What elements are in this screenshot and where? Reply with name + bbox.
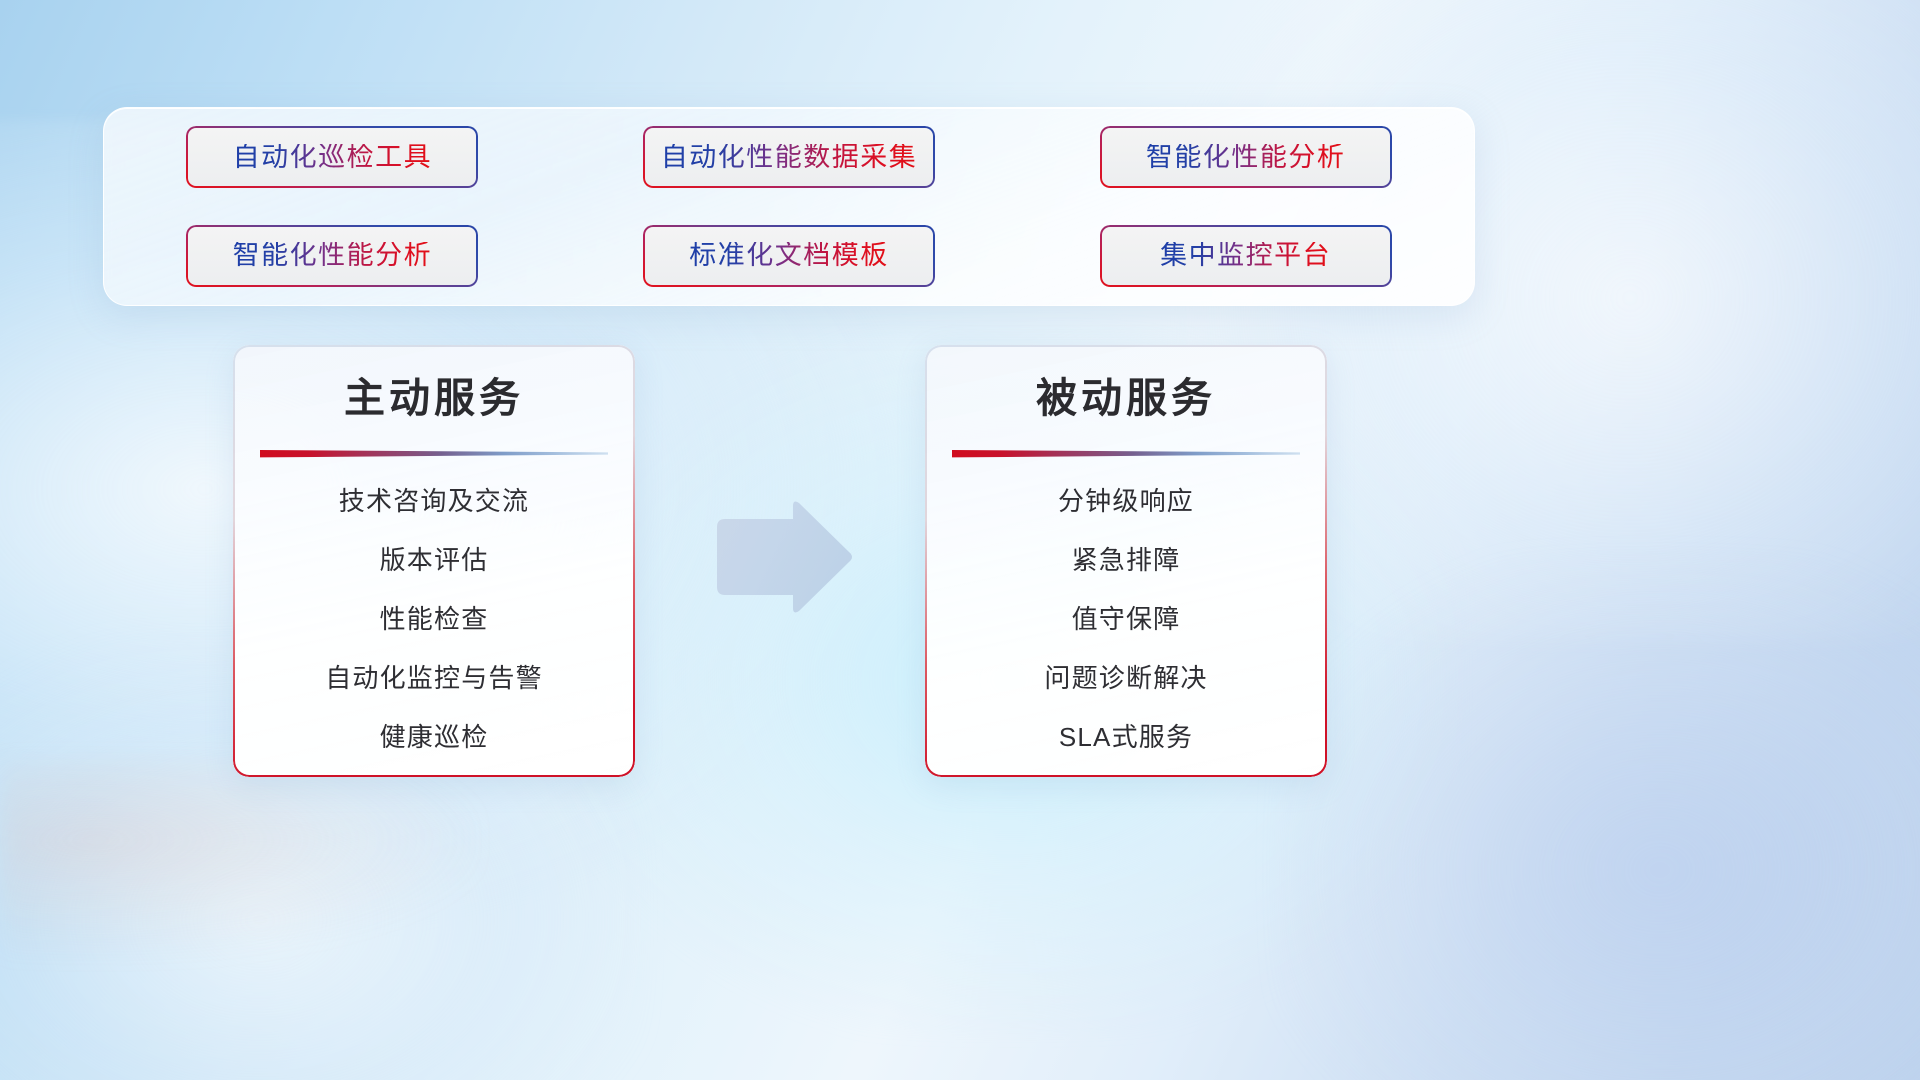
service-item: 紧急排障 — [925, 547, 1327, 573]
service-item: 自动化监控与告警 — [233, 665, 635, 691]
capability-tag-3[interactable]: 智能化性能分析 — [1100, 126, 1392, 188]
card-divider — [952, 448, 1300, 458]
capability-tag-label: 自动化性能数据采集 — [661, 144, 918, 171]
service-card-reactive[interactable]: 被动服务 分钟级响应 紧急排障 — [925, 345, 1327, 777]
arrow-right-icon — [709, 499, 855, 615]
service-card-title: 被动服务 — [925, 378, 1327, 419]
capability-tag-4[interactable]: 智能化性能分析 — [186, 225, 478, 287]
service-card-title: 主动服务 — [233, 378, 635, 419]
card-divider — [260, 448, 608, 458]
diagram-stage: 自动化巡检工具 自动化性能数据采集 智能化性能分析 智能化性能分析 标准化文档模… — [0, 0, 1920, 1080]
background-glow-bottom-right — [1280, 560, 1920, 1080]
capability-tag-label: 智能化性能分析 — [233, 242, 433, 269]
capability-tag-label: 智能化性能分析 — [1146, 144, 1346, 171]
capability-tag-label: 集中监控平台 — [1160, 242, 1331, 269]
capability-tag-2[interactable]: 自动化性能数据采集 — [643, 126, 935, 188]
service-item: 性能检查 — [233, 606, 635, 632]
service-item-list: 技术咨询及交流 版本评估 性能检查 自动化监控与告警 健康巡检 — [233, 488, 635, 750]
capability-tag-label: 自动化巡检工具 — [233, 144, 433, 171]
capability-tag-1[interactable]: 自动化巡检工具 — [186, 126, 478, 188]
service-item-list: 分钟级响应 紧急排障 值守保障 问题诊断解决 SLA式服务 — [925, 488, 1327, 750]
capability-tag-6[interactable]: 集中监控平台 — [1100, 225, 1392, 287]
service-card-proactive[interactable]: 主动服务 技术咨询及交流 版本评估 — [233, 345, 635, 777]
service-item: 值守保障 — [925, 606, 1327, 632]
capability-tag-label: 标准化文档模板 — [689, 242, 889, 269]
capability-panel: 自动化巡检工具 自动化性能数据采集 智能化性能分析 智能化性能分析 标准化文档模… — [103, 107, 1475, 306]
service-item: 问题诊断解决 — [925, 665, 1327, 691]
service-item: 分钟级响应 — [925, 488, 1327, 514]
service-item: 健康巡检 — [233, 724, 635, 750]
capability-tag-5[interactable]: 标准化文档模板 — [643, 225, 935, 287]
service-item: SLA式服务 — [925, 724, 1327, 750]
background-warm-tint — [0, 760, 480, 960]
service-item: 版本评估 — [233, 547, 635, 573]
service-item: 技术咨询及交流 — [233, 488, 635, 514]
